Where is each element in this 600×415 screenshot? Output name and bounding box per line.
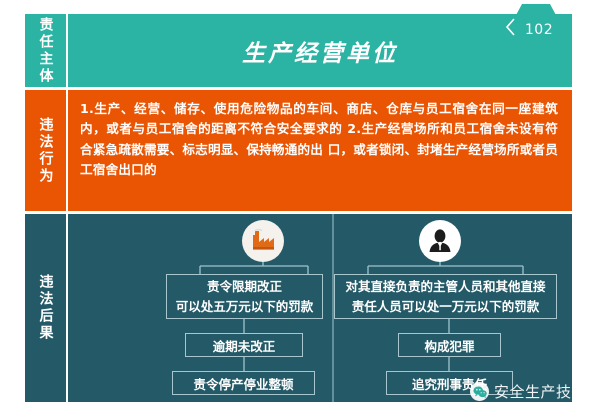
flow-box-left-3-line-1: 责令停产停业整顿: [193, 374, 293, 393]
wechat-icon: [470, 382, 489, 401]
consequence-flow-diagram: 责令限期改正 可以处五万元以下的罚款 逾期未改正 责令停产停业整顿 对其直接负责…: [68, 214, 572, 402]
factory-icon: [242, 220, 284, 262]
watermark: 安全生产技术: [470, 381, 587, 402]
flow-box-right-1-line-1: 对其直接负责的主管人员和其他直接: [345, 277, 545, 296]
sidebar-label-violation: 违法行为: [37, 117, 53, 185]
sidebar-cell-consequence: 违法后果: [25, 214, 66, 402]
sidebar-label-consequence: 违法后果: [37, 274, 53, 342]
page-title: 生产经营单位: [242, 34, 398, 68]
flow-box-left-2[interactable]: 逾期未改正: [185, 333, 303, 357]
sidebar-cell-subject: 责任主体: [25, 14, 66, 87]
flow-box-left-1-line-1: 责令限期改正: [207, 277, 282, 296]
violation-description: 1.生产、经营、储存、使用危险物品的车间、商店、仓库与员工宿舍在同一座建筑内，或…: [80, 99, 558, 181]
flow-box-left-1[interactable]: 责令限期改正 可以处五万元以下的罚款: [166, 274, 323, 319]
chevron-left-icon: [506, 18, 515, 36]
flow-box-left-1-line-2: 可以处五万元以下的罚款: [176, 297, 314, 316]
slide-canvas: 责任主体 违法行为 违法后果 生产经营单位 102 1.生产、经营、储存、使用危…: [0, 0, 600, 415]
sidebar-label-subject: 责任主体: [37, 17, 53, 85]
flow-box-right-1[interactable]: 对其直接负责的主管人员和其他直接 责任人员可以处一万元以下的罚款: [334, 274, 557, 319]
flow-box-right-2[interactable]: 构成犯罪: [398, 333, 501, 357]
flow-box-right-1-line-2: 责任人员可以处一万元以下的罚款: [352, 297, 540, 316]
flow-box-right-2-line-1: 构成犯罪: [424, 336, 474, 355]
person-icon: [419, 220, 461, 262]
sidebar-cell-violation: 违法行为: [25, 90, 66, 211]
page-number-value: 102: [519, 22, 553, 38]
flow-box-left-3[interactable]: 责令停产停业整顿: [172, 371, 315, 395]
header-band: 生产经营单位: [68, 14, 572, 87]
flow-box-left-2-line-1: 逾期未改正: [213, 336, 276, 355]
violation-band: 1.生产、经营、储存、使用危险物品的车间、商店、仓库与员工宿舍在同一座建筑内，或…: [68, 90, 572, 211]
watermark-text: 安全生产技术: [494, 381, 587, 402]
